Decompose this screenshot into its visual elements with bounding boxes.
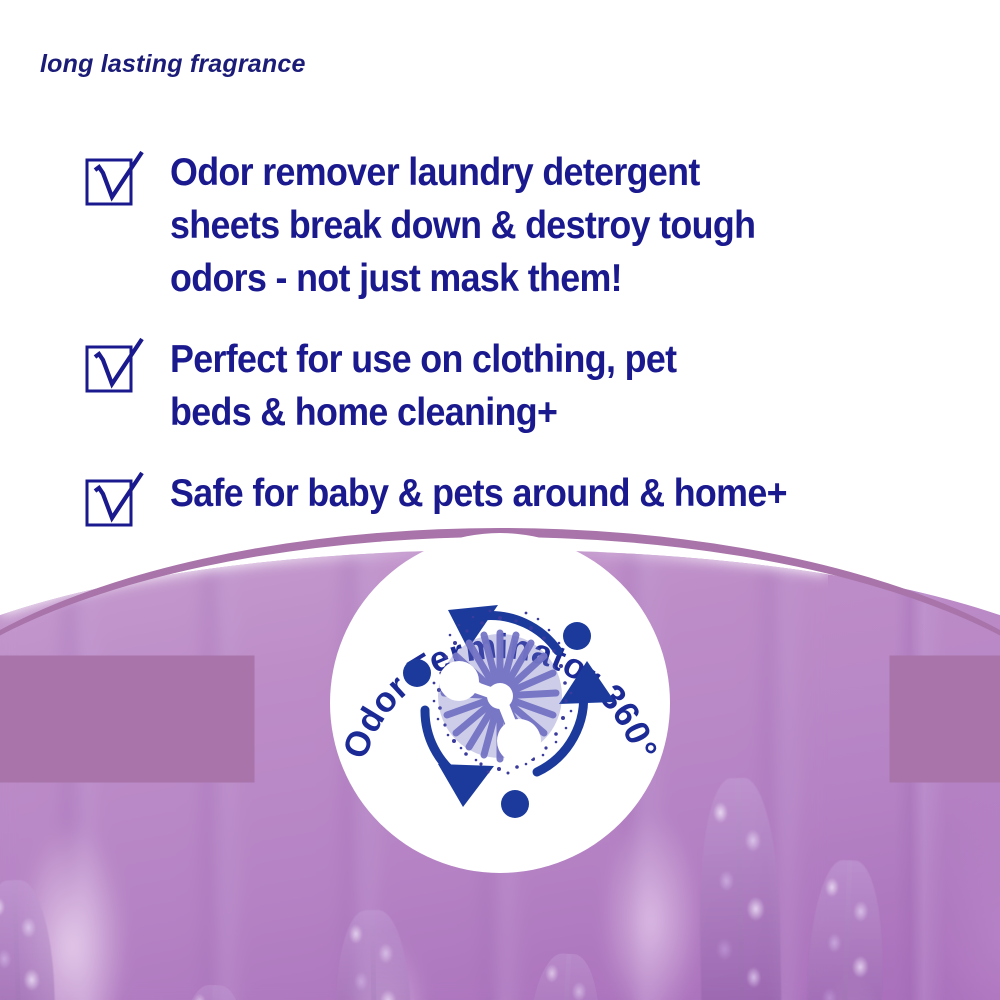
badge-dot	[403, 659, 431, 687]
feature-bullet-list: Odor remover laundry detergent sheets br…	[84, 146, 964, 520]
list-item-label: Odor remover laundry detergent sheets br…	[170, 146, 908, 305]
list-item: Safe for baby & pets around & home+	[84, 467, 964, 520]
list-item: Odor remover laundry detergent sheets br…	[84, 146, 964, 305]
checked-checkbox-icon	[84, 337, 146, 395]
list-item-label: Perfect for use on clothing, pet beds & …	[170, 333, 908, 439]
checked-checkbox-icon	[84, 150, 146, 208]
list-item: Perfect for use on clothing, pet beds & …	[84, 333, 964, 439]
list-item-label: Safe for baby & pets around & home+	[170, 467, 908, 520]
badge-dot	[501, 790, 529, 818]
product-feature-graphic: long lasting fragrance Odor remover laun…	[0, 0, 1000, 1000]
tagline: long lasting fragrance	[40, 50, 306, 79]
badge-dot	[563, 622, 591, 650]
badge-graphic: Odor Terminator 360°	[330, 533, 670, 873]
odor-terminator-badge: Odor Terminator 360°	[330, 533, 670, 873]
